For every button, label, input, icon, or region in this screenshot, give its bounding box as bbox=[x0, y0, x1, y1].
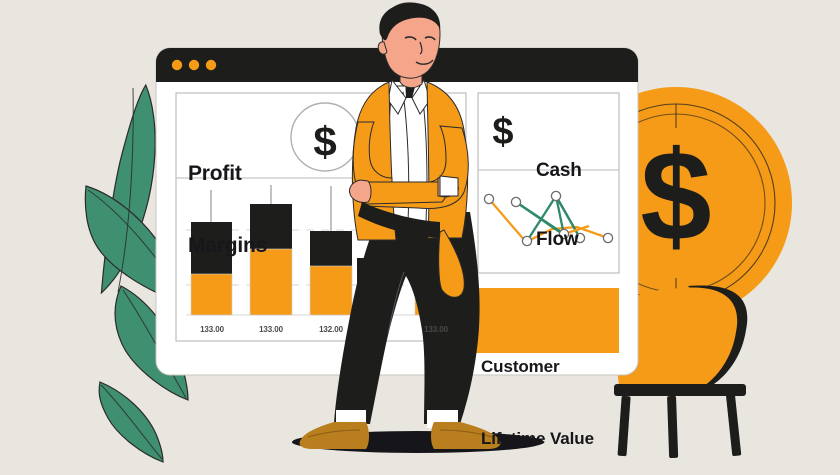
profit-margins-title-line2: Margins bbox=[188, 234, 267, 258]
bar-value-label: 132.00 bbox=[319, 325, 343, 334]
profit-margins-title-line1: Profit bbox=[188, 162, 267, 186]
window-dot-minimize bbox=[189, 60, 199, 70]
cash-flow-title-line2: Flow bbox=[536, 228, 582, 251]
svg-text:$: $ bbox=[313, 118, 336, 165]
window-dot-close bbox=[172, 60, 182, 70]
cash-flow-title-line1: Cash bbox=[536, 159, 582, 182]
illustration-canvas: $ $ bbox=[0, 0, 840, 473]
clv-title-line1: Customer bbox=[481, 355, 594, 379]
bar-value-label: 133.00 bbox=[424, 325, 448, 334]
clv-title-line2: Lifetime Value bbox=[481, 427, 594, 451]
scene-svg: $ $ bbox=[0, 0, 840, 473]
bar-value-label: 133.00 bbox=[200, 325, 224, 334]
profit-margins-title: Profit Margins bbox=[188, 114, 267, 282]
cash-flow-title: Cash Flow bbox=[536, 113, 582, 274]
customer-lifetime-value-title: Customer Lifetime Value bbox=[481, 307, 594, 475]
coin-dollar-glyph: $ bbox=[640, 125, 711, 268]
bar-value-label: 133.00 bbox=[259, 325, 283, 334]
window-dot-maximize bbox=[206, 60, 216, 70]
dollar-sign-icon: $ bbox=[492, 111, 513, 153]
